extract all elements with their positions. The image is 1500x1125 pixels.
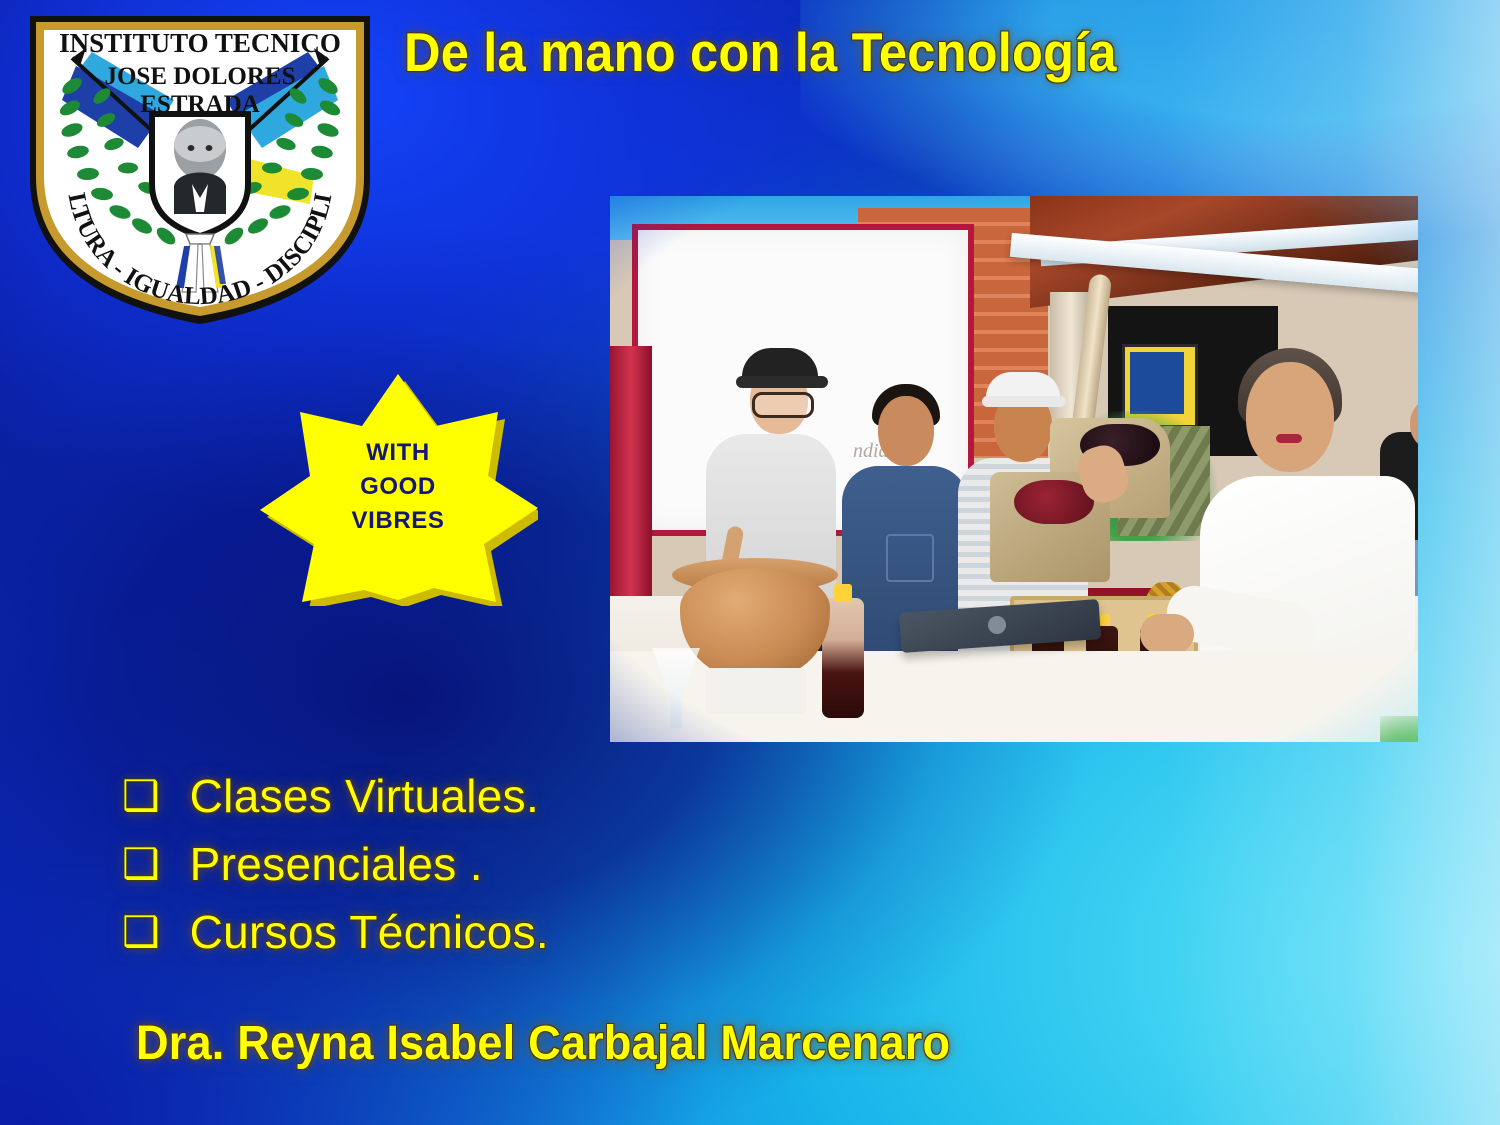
photo-student-boy2-cap-brim (982, 396, 1066, 407)
crest-line3: ESTRADA (140, 91, 259, 118)
photo-student-boy1-face (878, 396, 934, 466)
photo-clay-pot (680, 568, 830, 678)
checkbox-bullet-icon: ❑ (122, 911, 160, 953)
crest-line2: JOSE DOLORES (104, 63, 295, 90)
list-item[interactable]: ❑ Clases Virtuales. (122, 762, 822, 830)
photo-wall-art-canvas (1130, 352, 1184, 414)
photo-laptop-logo (988, 616, 1006, 634)
crest-portrait (174, 119, 226, 214)
checkbox-bullet-icon: ❑ (122, 843, 160, 885)
event-photograph: ndida (600, 186, 1428, 752)
checkbox-bullet-icon: ❑ (122, 775, 160, 817)
photo-student-boy1-shirt-graphic (886, 534, 934, 582)
with-good-vibres-star-badge: WITH GOOD VIBRES (258, 368, 538, 606)
list-item-label: Clases Virtuales. (190, 769, 539, 823)
star-shape (260, 374, 538, 602)
photo-presenter-face (1246, 362, 1334, 472)
list-item-label: Cursos Técnicos. (190, 905, 549, 959)
slide-title: De la mano con la Tecnología (404, 24, 1122, 82)
list-item-label: Presenciales . (190, 837, 483, 891)
photo-student-girl-glasses (752, 392, 814, 418)
photo-presenter-lips (1276, 434, 1302, 443)
institute-crest-logo: INSTITUTO TECNICO JOSE DOLORES ESTRADA C… (14, 8, 386, 328)
photo-clay-pot-stand (706, 668, 806, 714)
event-photograph-scene: ndida (610, 196, 1418, 742)
crest-line1: INSTITUTO TECNICO (59, 28, 341, 58)
slide-canvas: INSTITUTO TECNICO JOSE DOLORES ESTRADA C… (0, 0, 1500, 1125)
photo-palm-plant (1380, 716, 1418, 742)
offerings-list: ❑ Clases Virtuales. ❑ Presenciales . ❑ C… (122, 762, 822, 966)
photo-student-girl-cap-brim (736, 376, 828, 388)
photo-presenter-hand-right (1140, 614, 1194, 654)
presenter-name: Dra. Reyna Isabel Carbajal Marcenaro (136, 1016, 950, 1071)
list-item[interactable]: ❑ Presenciales . (122, 830, 822, 898)
photo-large-bottle-cap (834, 584, 852, 602)
list-item[interactable]: ❑ Cursos Técnicos. (122, 898, 822, 966)
